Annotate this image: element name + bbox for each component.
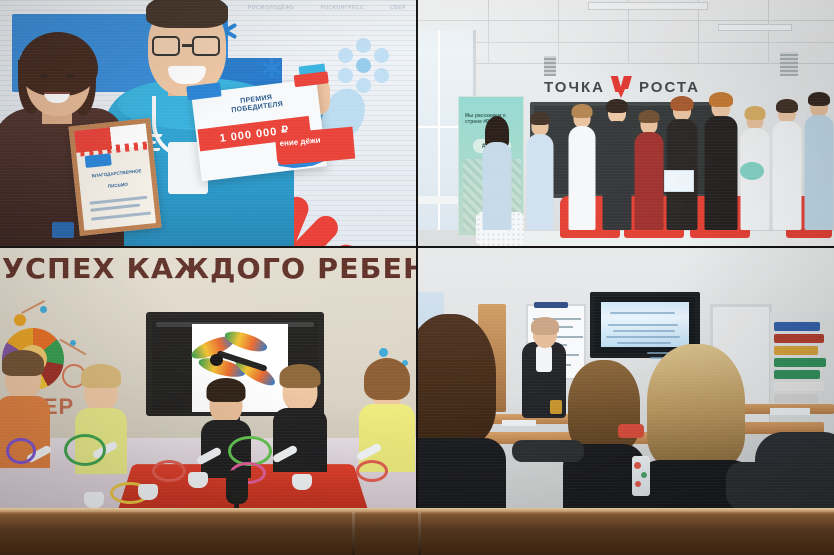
person-figure	[602, 102, 632, 230]
panel-kids-3d-pen-workshop: УСПЕХ КАЖДОГО РЕБЕНКА БЕР	[0, 248, 416, 510]
papers	[502, 420, 536, 426]
person-figure	[482, 112, 512, 230]
sponsor-logo-3: СБЕР	[390, 5, 406, 11]
vent-icon-2	[780, 52, 798, 76]
microphone	[226, 470, 248, 504]
audience-member-back	[418, 314, 494, 510]
round-sign-in-hand	[740, 162, 764, 180]
certificate-title: БЛАГОДАРСТВЕННОЕ	[85, 167, 149, 180]
chair	[512, 440, 584, 462]
person-figure	[634, 108, 664, 230]
panel-seminar-lecture	[418, 248, 834, 510]
sponsor-logo-1: РОСМОЛОДЁЖЬ	[248, 5, 294, 11]
ceiling-light	[588, 2, 708, 10]
panel-award-ceremony: БО РОСМОЛОДЁЖЬ РОСКОНГРЕСС СБЕР	[0, 0, 416, 246]
wall-text-success-of-every-child: УСПЕХ КАЖДОГО РЕБЕНКА	[2, 252, 410, 285]
presenter-figure	[522, 320, 568, 418]
certificate-in-hand	[664, 170, 694, 192]
filament-coil	[64, 434, 106, 466]
screenshot-root: БО РОСМОЛОДЁЖЬ РОСКОНГРЕСС СБЕР	[0, 0, 834, 555]
snowflake-icon-2	[262, 58, 282, 78]
thermos-cup	[632, 456, 650, 496]
pen-stand	[188, 472, 208, 488]
person-figure-with-certificate	[666, 100, 698, 230]
filament-coil	[356, 460, 388, 482]
photo-collage: БО РОСМОЛОДЁЖЬ РОСКОНГРЕСС СБЕР	[0, 0, 834, 510]
chair	[726, 462, 834, 510]
ceiling-light-2	[718, 24, 792, 31]
wall-sign-tochka-rosta: ТОЧКА РОСТА	[514, 76, 730, 98]
gratitude-certificate: БЛАГОДАРСТВЕННОЕ ПИСЬМО	[68, 118, 161, 236]
papers	[770, 408, 810, 415]
red-badge-tag: ение дёжи	[275, 127, 355, 166]
red-object-on-desk	[618, 424, 644, 438]
filament-coil	[6, 438, 36, 464]
sign-word-right: РОСТА	[639, 79, 700, 96]
sponsor-logo-2: РОСКОНГРЕСС	[320, 5, 364, 11]
person-figure	[526, 112, 554, 230]
handheld-item	[550, 400, 562, 414]
person-figure	[568, 106, 596, 230]
pen-stand	[292, 474, 312, 490]
vent-icon	[544, 56, 556, 76]
sponsor-logo-strip: РОСМОЛОДЁЖЬ РОСКОНГРЕСС СБЕР	[248, 0, 416, 16]
person-figure-teacher	[704, 96, 738, 230]
dot-graphic	[14, 314, 26, 326]
dot-graphic	[40, 306, 47, 313]
sign-word-left: ТОЧКА	[544, 79, 605, 96]
wooden-wall-panel	[0, 508, 834, 555]
person-figure	[740, 106, 770, 230]
panel-tochka-rosta-group: ТОЧКА РОСТА Мы расскажем о стране #РДШ #…	[418, 0, 834, 246]
pen-stand	[84, 492, 104, 508]
person-figure	[804, 98, 834, 230]
pen-stand	[138, 484, 158, 500]
filament-coil	[152, 460, 186, 482]
flower-icon	[336, 38, 392, 94]
certificate-subtitle: ПИСЬМО	[86, 179, 150, 191]
tochka-rosta-checkmark-icon	[611, 76, 633, 98]
person-figure	[772, 102, 802, 230]
